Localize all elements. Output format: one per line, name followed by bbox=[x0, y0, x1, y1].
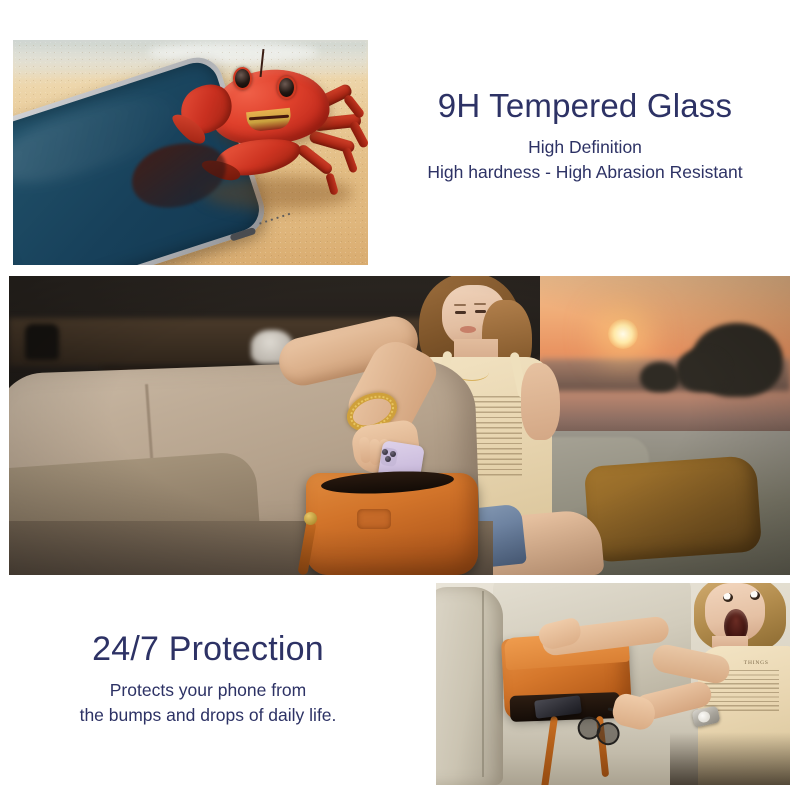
woman-lips bbox=[460, 326, 476, 333]
sunset-window bbox=[540, 276, 790, 455]
crab-eye bbox=[233, 67, 252, 90]
sun-icon bbox=[608, 319, 638, 349]
shelf-vase bbox=[25, 324, 59, 360]
page-title: 9H Tempered Glass bbox=[380, 88, 790, 125]
woman-shoulder bbox=[521, 363, 560, 441]
photo-shadow bbox=[670, 732, 790, 785]
woman-eye bbox=[475, 310, 486, 313]
protection-feature-text: 24/7 Protection Protects your phone from… bbox=[8, 630, 408, 729]
woman-placing-phone-in-bag-photo bbox=[9, 276, 790, 575]
armrest-seam bbox=[482, 591, 484, 777]
glass-subline-2: High hardness - High Abrasion Resistant bbox=[380, 160, 790, 185]
woman-eye bbox=[455, 311, 466, 314]
tree-silhouette bbox=[640, 362, 680, 392]
bag-contents-falling-photo: THINGS bbox=[436, 583, 790, 785]
bag-leather-tag bbox=[357, 509, 391, 529]
protection-title: 24/7 Protection bbox=[8, 630, 408, 668]
protection-subline-1: Protects your phone from bbox=[8, 678, 408, 703]
crab-leg bbox=[296, 143, 334, 176]
glass-feature-text: 9H Tempered Glass High Definition High h… bbox=[380, 88, 790, 186]
tank-top-print-title: THINGS bbox=[744, 660, 769, 666]
watch-face bbox=[697, 711, 711, 724]
tree-silhouette bbox=[676, 348, 730, 392]
sofa-armrest bbox=[436, 587, 503, 785]
camera-lens bbox=[390, 451, 396, 457]
glass-subline-1: High Definition bbox=[380, 135, 790, 160]
woman-eyebrow bbox=[474, 303, 486, 305]
camera-lens bbox=[385, 456, 391, 462]
woman-eye bbox=[750, 591, 760, 600]
protection-subline-2: the bumps and drops of daily life. bbox=[8, 703, 408, 728]
product-feature-banner: THINGS 9H Tempered Glass High Definition… bbox=[0, 0, 800, 800]
crab-on-phone-photo bbox=[13, 40, 368, 265]
olive-throw-pillow bbox=[584, 455, 762, 562]
crab-eye bbox=[277, 76, 296, 99]
crab-leg-segment bbox=[342, 146, 358, 173]
